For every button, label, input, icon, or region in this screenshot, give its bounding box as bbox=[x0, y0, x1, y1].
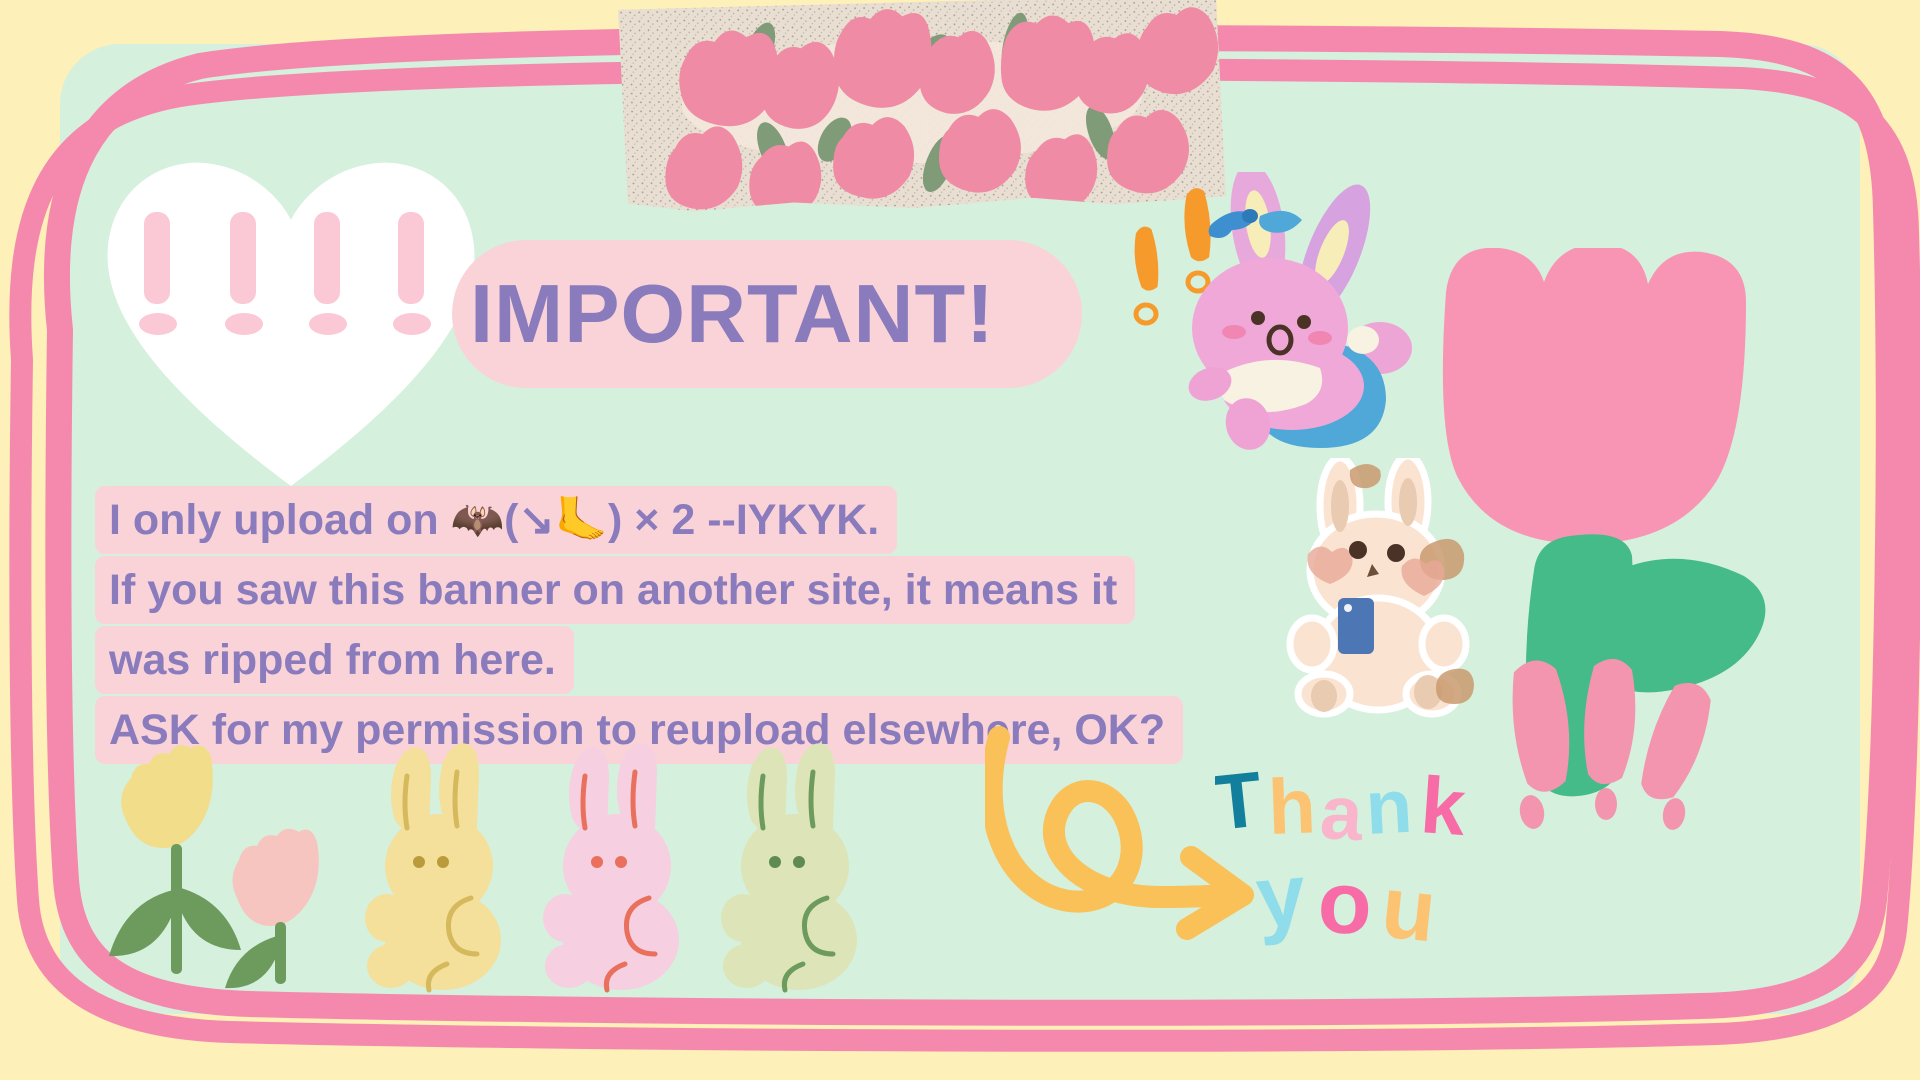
ty-letter-u: u bbox=[1377, 856, 1441, 960]
gummy-bunny-green bbox=[721, 743, 857, 990]
ty-letter-h: h bbox=[1267, 761, 1318, 851]
gummy-bunny-row bbox=[95, 740, 1005, 995]
notice-line-2: If you saw this banner on another site, … bbox=[95, 556, 1135, 624]
heart-with-exclamations-icon bbox=[96, 150, 486, 490]
ty-letter-y: y bbox=[1252, 844, 1309, 947]
banner-root: IMPORTANT! I only upload on 🦇(↘🦶) × 2 --… bbox=[0, 0, 1920, 1080]
thank-you-lettering: T h a n k y o u bbox=[1215, 760, 1515, 960]
notice-line-1: I only upload on 🦇(↘🦶) × 2 --IYKYK. bbox=[95, 486, 897, 554]
ty-letter-n: n bbox=[1363, 764, 1414, 851]
gummy-bunny-pink bbox=[543, 743, 679, 990]
pink-tulip-icon bbox=[225, 829, 319, 988]
ty-letter-k: k bbox=[1418, 760, 1469, 852]
ty-letter-a: a bbox=[1318, 770, 1365, 857]
gummy-bunny-yellow bbox=[365, 743, 501, 990]
yellow-tulip-icon bbox=[109, 745, 241, 974]
ty-letter-T: T bbox=[1215, 760, 1266, 847]
page-title: IMPORTANT! bbox=[470, 240, 1110, 388]
ty-letter-o: o bbox=[1316, 852, 1373, 953]
notice-line-3: was ripped from here. bbox=[95, 626, 574, 694]
